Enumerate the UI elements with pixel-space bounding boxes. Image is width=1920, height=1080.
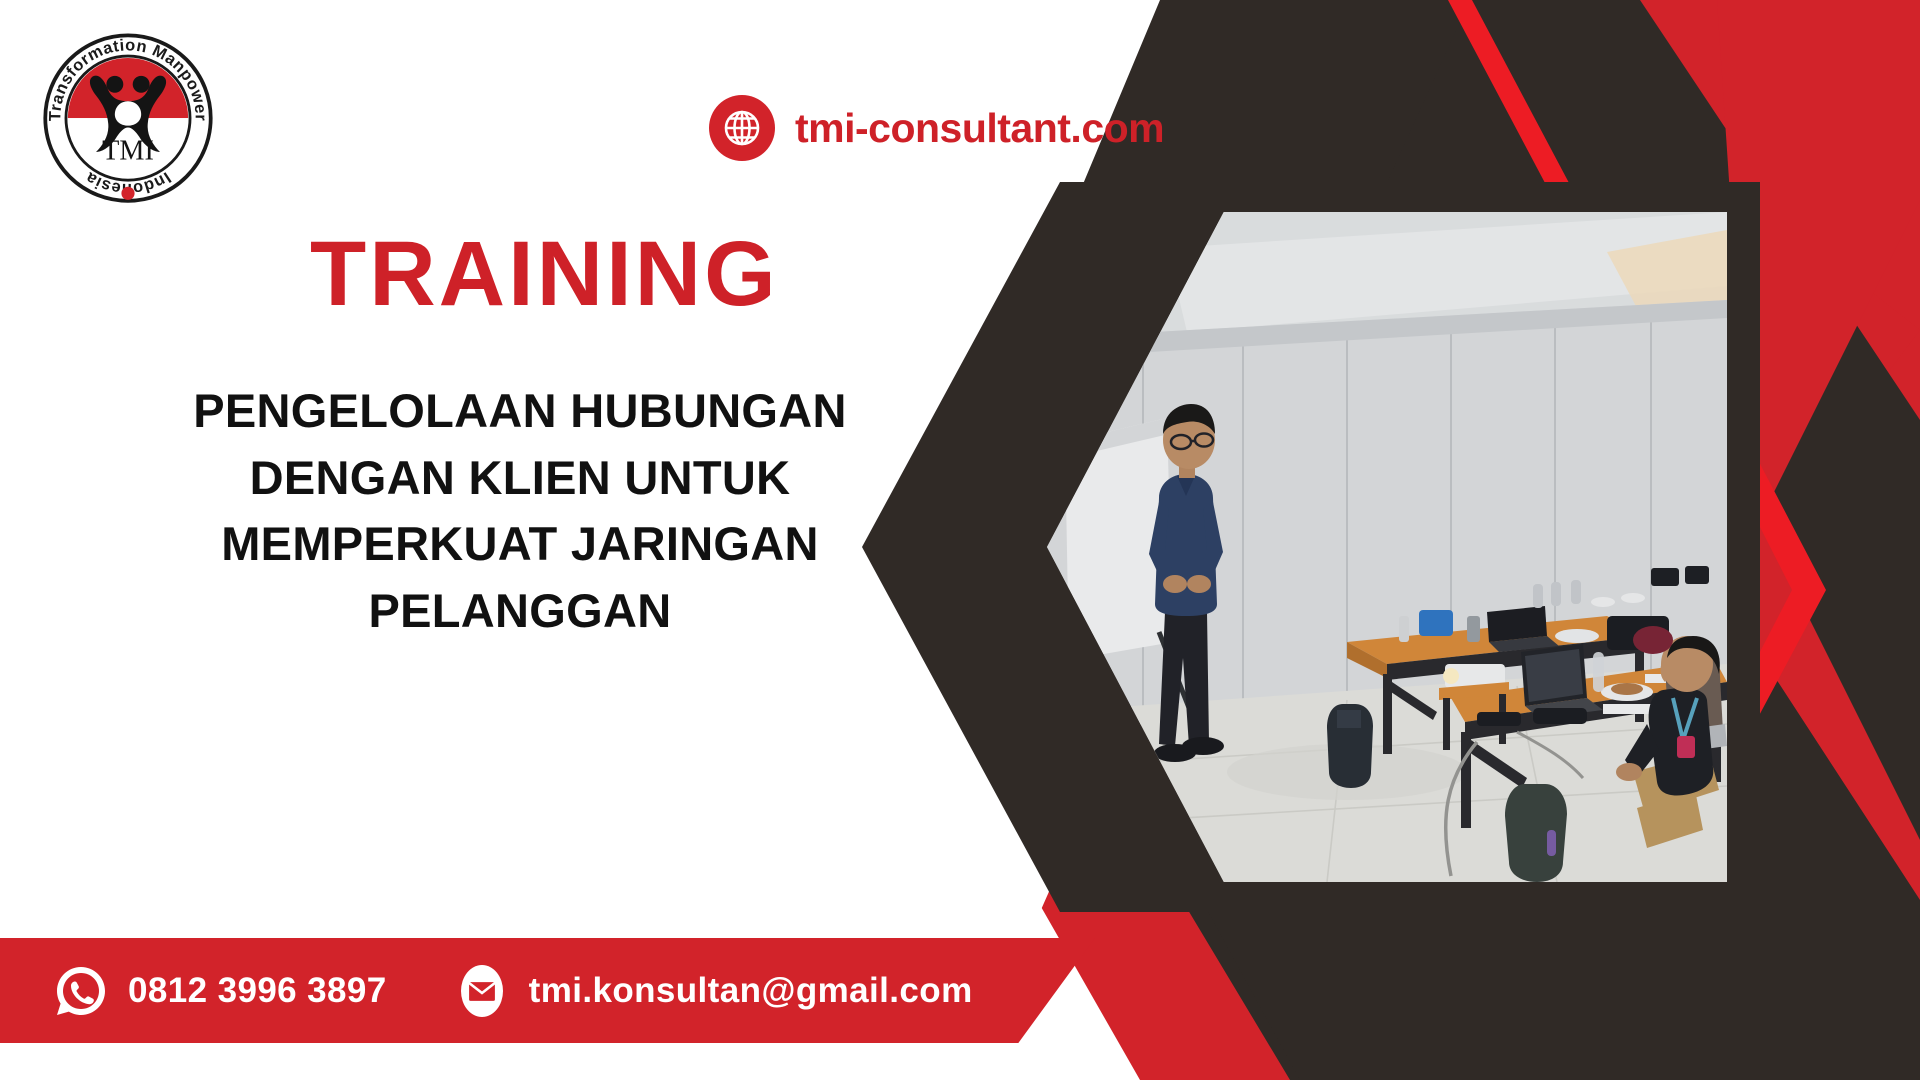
contact-phone-label[interactable]: 0812 3996 3897 xyxy=(128,971,387,1011)
title-line-1: PENGELOLAAN HUBUNGAN xyxy=(60,378,980,445)
globe-icon xyxy=(709,95,775,161)
contact-phone[interactable]: 0812 3996 3897 xyxy=(52,962,387,1020)
website-url[interactable]: tmi-consultant.com xyxy=(795,105,1164,152)
page-title: PENGELOLAAN HUBUNGAN DENGAN KLIEN UNTUK … xyxy=(60,378,980,645)
contact-email[interactable]: tmi.konsultan@gmail.com xyxy=(453,962,973,1020)
email-icon xyxy=(453,962,511,1020)
poster-canvas: TMI Transformation Manpower Indonesia xyxy=(0,0,1920,1080)
contact-email-label[interactable]: tmi.konsultan@gmail.com xyxy=(529,971,973,1011)
tmi-logo-mark: TMI Transformation Manpower Indonesia xyxy=(30,26,226,214)
website-row[interactable]: tmi-consultant.com xyxy=(709,95,1164,161)
logo-figure-gap xyxy=(115,101,141,125)
whatsapp-icon xyxy=(52,962,110,1020)
title-line-4: PELANGGAN xyxy=(60,578,980,645)
title-line-2: DENGAN KLIEN UNTUK xyxy=(60,445,980,512)
logo-monogram: TMI xyxy=(102,135,154,166)
logo-red-dot xyxy=(121,187,134,200)
tmi-logo: TMI Transformation Manpower Indonesia xyxy=(30,26,226,214)
title-line-3: MEMPERKUAT JARINGAN xyxy=(60,511,980,578)
training-photo-scene xyxy=(1047,212,1727,882)
training-photo xyxy=(1047,212,1727,882)
eyebrow-training: TRAINING xyxy=(310,228,779,320)
footer-contacts: 0812 3996 3897 tmi.konsultan@gmail.com xyxy=(52,938,973,1043)
